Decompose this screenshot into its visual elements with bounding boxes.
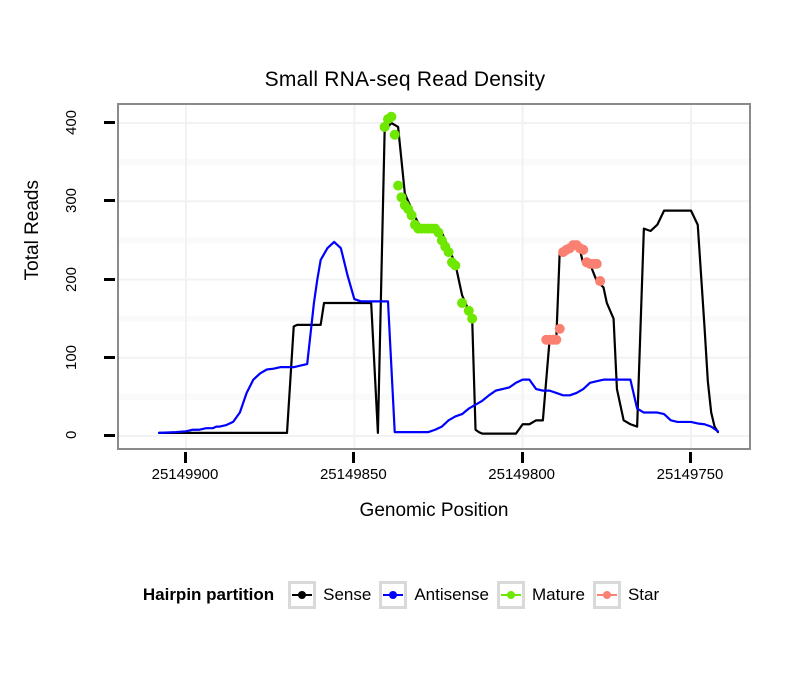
legend-row: Hairpin partition SenseAntisenseMatureSt… xyxy=(0,578,810,612)
legend-entry-star[interactable]: Star xyxy=(593,581,659,609)
x-tick-label: 25149750 xyxy=(630,466,750,483)
y-tick-label: 0 xyxy=(63,415,103,455)
x-tick-mark xyxy=(689,452,692,463)
plot-area xyxy=(119,105,749,448)
legend-key-antisense xyxy=(379,581,407,609)
y-axis-label: Total Reads xyxy=(22,180,52,280)
legend-entry-antisense[interactable]: Antisense xyxy=(379,581,489,609)
legend-label: Star xyxy=(628,585,659,605)
grid-lines xyxy=(119,105,749,448)
legend-key-star xyxy=(593,581,621,609)
series-points-star xyxy=(541,240,605,345)
x-tick-label: 25149850 xyxy=(293,466,413,483)
legend-entry-mature[interactable]: Mature xyxy=(497,581,585,609)
series-line-sense xyxy=(159,123,718,434)
legend-key-sense xyxy=(288,581,316,609)
x-tick-mark xyxy=(521,452,524,463)
legend-key-mature xyxy=(497,581,525,609)
legend-dot-glyph xyxy=(389,591,397,599)
plot-svg xyxy=(119,105,749,448)
series-line-antisense xyxy=(159,242,718,433)
legend-dot-glyph xyxy=(298,591,306,599)
x-axis-label: Genomic Position xyxy=(117,500,751,522)
chart-legend: Hairpin partition SenseAntisenseMatureSt… xyxy=(0,578,810,612)
series-points-mature xyxy=(380,112,478,324)
y-tick-label: 300 xyxy=(63,180,103,220)
y-tick-mark xyxy=(104,278,115,281)
x-tick-label: 25149800 xyxy=(462,466,582,483)
legend-label: Sense xyxy=(323,585,371,605)
chart-figure: Small RNA-seq Read Density Total Reads 0… xyxy=(0,0,810,690)
y-tick-label: 100 xyxy=(63,337,103,377)
plot-panel xyxy=(117,103,751,450)
legend-dot-glyph xyxy=(507,591,515,599)
y-tick-mark xyxy=(104,434,115,437)
y-tick-mark xyxy=(104,121,115,124)
y-tick-label: 200 xyxy=(63,259,103,299)
legend-label: Antisense xyxy=(414,585,489,605)
legend-label: Mature xyxy=(532,585,585,605)
y-tick-label: 400 xyxy=(63,102,103,142)
legend-entry-sense[interactable]: Sense xyxy=(288,581,371,609)
x-tick-mark xyxy=(352,452,355,463)
y-tick-mark xyxy=(104,199,115,202)
legend-dot-glyph xyxy=(603,591,611,599)
x-tick-mark xyxy=(184,452,187,463)
legend-title: Hairpin partition xyxy=(143,585,274,605)
x-tick-label: 25149900 xyxy=(125,466,245,483)
chart-title: Small RNA-seq Read Density xyxy=(0,68,810,92)
y-tick-mark xyxy=(104,356,115,359)
